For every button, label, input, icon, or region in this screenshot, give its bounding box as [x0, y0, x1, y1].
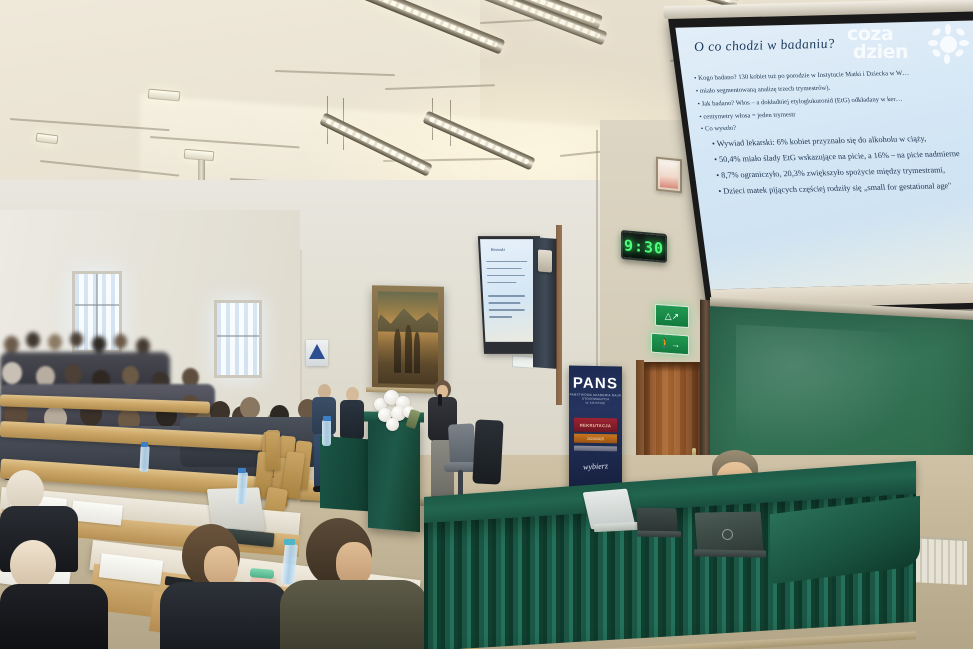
emblem-image: [660, 161, 678, 189]
bottle-cap: [141, 442, 148, 447]
audience-head: [70, 332, 83, 347]
painting-tree: [394, 328, 402, 372]
head-table-laptop-2-screen: [636, 508, 677, 533]
person-body: [280, 580, 428, 649]
green-draped-podium: [368, 416, 420, 533]
bottle-cap: [323, 416, 331, 421]
clock-digits: 9:30: [624, 236, 664, 258]
door-header-shadow: [644, 362, 700, 372]
audience-head: [4, 336, 19, 353]
head-table-laptop-2-base: [637, 531, 681, 538]
painting-tree: [405, 325, 412, 373]
banner-year-band: 2024/2025: [574, 434, 617, 444]
wall-speaker: [538, 249, 552, 272]
exit-sign-upper: △↗: [655, 304, 689, 328]
person-body: [160, 582, 288, 649]
secondary-slide-title: Wnioski: [490, 247, 504, 252]
wall-notice-sign: [512, 355, 534, 369]
painting-tree: [414, 333, 420, 374]
framed-landscape-painting: [372, 285, 444, 391]
draped-jacket: [472, 419, 503, 484]
podium-water-bottle: [322, 420, 331, 446]
slide-title: O co chodzi w badaniu?: [693, 36, 836, 55]
foreground-person-center: [160, 524, 290, 649]
microphone-icon: [438, 394, 442, 406]
audience-head: [92, 336, 106, 352]
exit-sign-lower: 🚶→: [651, 333, 689, 356]
audience-head: [240, 397, 260, 419]
banner-recruitment-band: REKRUTACJA: [574, 418, 617, 433]
main-screen-surface: O co chodzi w badaniu? Kogo badano? 130 …: [675, 20, 973, 289]
office-chair-back: [448, 423, 476, 464]
audience-head: [48, 334, 62, 350]
running-man-exit-icon: △↗: [665, 310, 679, 322]
head-table-laptop-3-base: [694, 549, 766, 557]
banner-grey-band: [574, 446, 617, 452]
window-mullion: [217, 335, 259, 337]
bottle-cap: [238, 468, 246, 473]
main-projection-screen: O co chodzi w badaniu? Kogo badano? 130 …: [668, 10, 973, 315]
chalkboard-sheen: [736, 325, 920, 460]
banner-logo-text: PANS: [569, 375, 622, 393]
audience-head: [26, 332, 40, 348]
framed-wall-emblem: [656, 157, 682, 194]
lecture-hall-photo: Wnioski O co chodzi w badaniu? Kogo bada…: [0, 0, 973, 649]
banner-subtitle-2: W KROŚNIE: [569, 401, 622, 406]
slide-bullet-list: Kogo badano? 130 kobiet tuż po porodzie …: [694, 66, 973, 200]
audience-head: [2, 362, 22, 384]
person-face: [204, 546, 238, 586]
running-man-door-exit-icon: 🚶→: [660, 338, 680, 350]
person-body: [0, 584, 108, 649]
flower-petal: [386, 418, 399, 431]
auditorium-chair: [266, 430, 280, 470]
water-bottle: [139, 446, 149, 472]
banner-script-text: wybierz: [569, 461, 622, 473]
audience-head: [122, 366, 139, 385]
audience-head: [114, 334, 127, 349]
wall-digital-clock: 9:30: [621, 230, 667, 263]
wall-triangle-sign: [306, 340, 328, 366]
foreground-person-right: [280, 518, 430, 649]
triangle-glyph-icon: [309, 344, 325, 359]
audience-head: [64, 364, 82, 384]
white-flower-arrangement: [372, 388, 420, 430]
person-torso: [340, 400, 364, 440]
door-frame-left-hall: [556, 225, 562, 405]
person-head: [10, 540, 56, 590]
secondary-slide-lines: [486, 261, 537, 323]
foreground-person-bottom-left: [0, 540, 110, 649]
painting-canvas: [378, 291, 438, 384]
